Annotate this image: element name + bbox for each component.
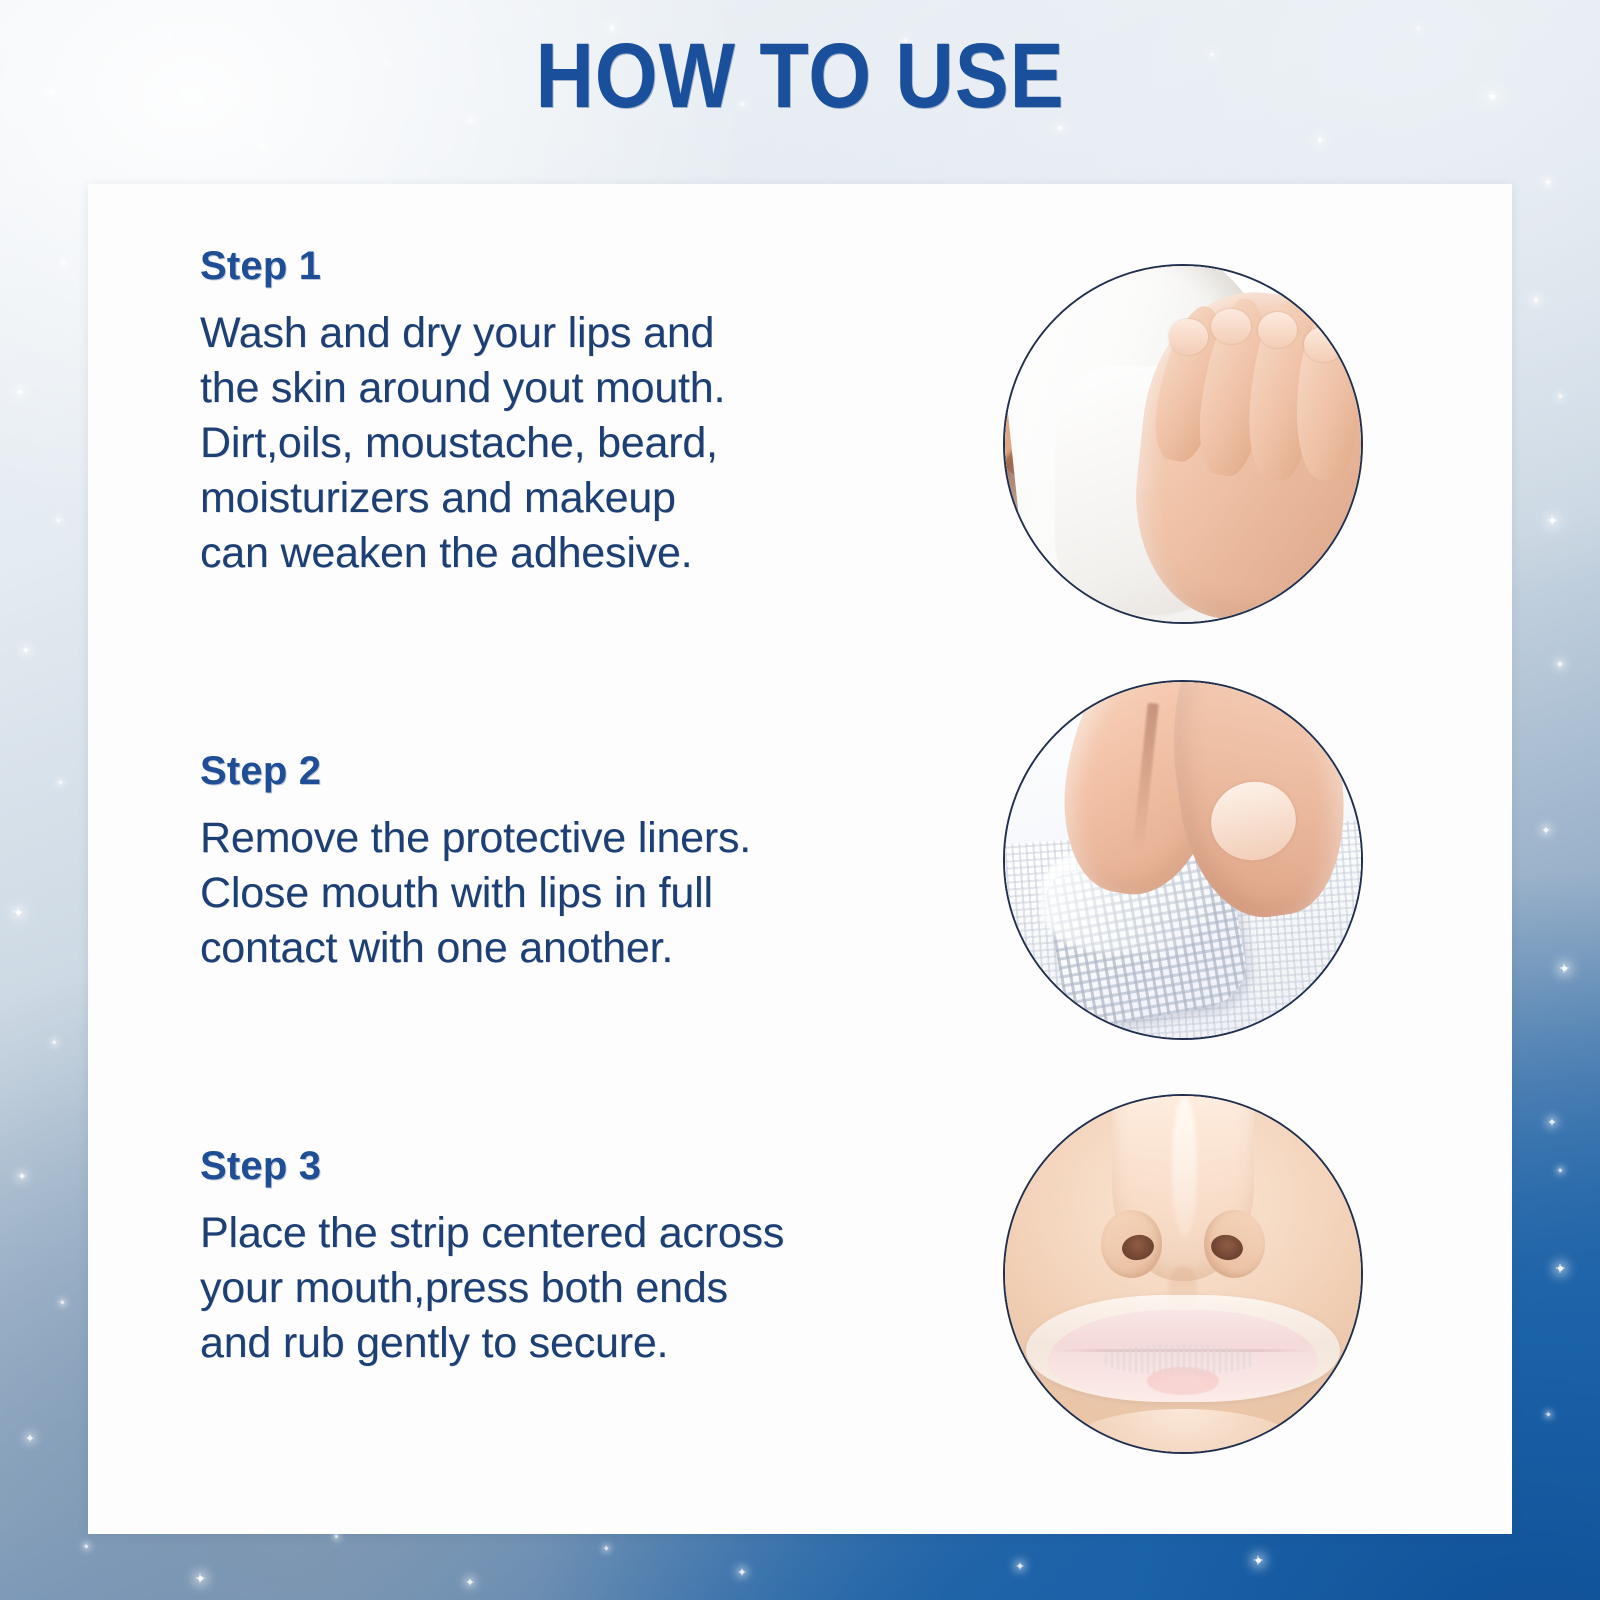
sparkle-dot [18, 390, 22, 394]
sparkle-dot [605, 1547, 608, 1550]
sparkle-dot [1318, 138, 1322, 142]
sparkle-dot [85, 1545, 88, 1548]
sparkle-dot [1534, 298, 1538, 302]
sparkle-dot [740, 1570, 744, 1574]
sparkle-dot [53, 1041, 56, 1044]
towel-dry-illustration [1005, 266, 1361, 622]
step-2-body: Remove the protective liners. Close mout… [200, 811, 900, 976]
sparkle-dot [468, 1580, 472, 1584]
sparkle-dot [61, 1301, 64, 1304]
page-title: HOW TO USE [96, 26, 1504, 126]
sparkle-dot [1550, 1120, 1554, 1124]
sparkle-dot [57, 519, 60, 522]
sparkle-dot [24, 648, 28, 652]
sparkle-dot [28, 1436, 32, 1440]
step-item-1: Step 1 Wash and dry your lips and the sk… [200, 240, 900, 581]
sparkle-dot [1018, 1564, 1022, 1568]
sparkle-dot [198, 1576, 203, 1581]
sparkle-dot [1544, 828, 1548, 832]
instructions-card: Step 1 Wash and dry your lips and the sk… [88, 184, 1512, 1534]
sparkle-dot [335, 1535, 338, 1538]
sparkle-dot [260, 144, 264, 148]
step-item-3: Step 3 Place the strip centered across y… [200, 1140, 900, 1371]
step-1-heading: Step 1 [200, 240, 900, 292]
step-1-photo [1003, 264, 1363, 624]
sparkle-dot [1550, 518, 1555, 523]
sparkle-dot [1558, 662, 1562, 666]
sparkle-dot [1559, 1169, 1562, 1172]
sparkle-dot [1559, 395, 1562, 398]
sparkle-dot [1558, 1266, 1563, 1271]
sparkle-dot [1547, 1413, 1550, 1416]
sparkle-dot [59, 781, 62, 784]
sparkle-dot [50, 90, 55, 95]
step-3-photo [1003, 1094, 1363, 1454]
sparkle-dot [20, 1174, 24, 1178]
sparkle-dot [1562, 966, 1567, 971]
poster-root: HOW TO USE Step 1 Wash and dry your lips… [0, 0, 1600, 1600]
sparkle-dot [1546, 180, 1550, 184]
step-item-2: Step 2 Remove the protective liners. Clo… [200, 745, 900, 976]
sparkle-dot [1256, 1558, 1261, 1563]
sparkle-dot [63, 261, 66, 264]
step-2-photo [1003, 680, 1363, 1040]
sparkle-dot [16, 910, 21, 915]
step-2-heading: Step 2 [200, 745, 900, 797]
strip-on-lips-illustration [1005, 1096, 1361, 1452]
peel-liner-illustration [1005, 682, 1361, 1038]
step-3-heading: Step 3 [200, 1140, 900, 1192]
step-1-body: Wash and dry your lips and the skin arou… [200, 306, 900, 581]
step-3-body: Place the strip centered across your mou… [200, 1206, 900, 1371]
